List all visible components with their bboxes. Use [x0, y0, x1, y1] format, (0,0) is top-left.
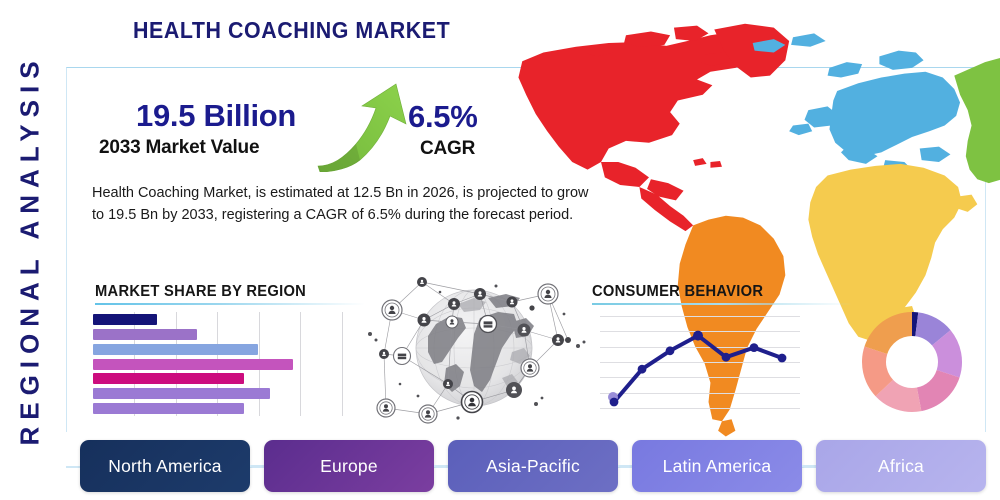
cagr-figure: 6.5% — [408, 99, 477, 135]
bar — [93, 329, 197, 340]
region-button-africa[interactable]: Africa — [816, 440, 986, 492]
bar — [93, 344, 258, 355]
section-title-consumer-behavior: CONSUMER BEHAVIOR — [592, 283, 763, 301]
section-rule-consumer-behavior — [592, 303, 852, 305]
bar — [93, 314, 157, 325]
line-data-point — [610, 398, 619, 407]
line-data-point — [638, 365, 647, 374]
line-data-point — [693, 331, 703, 341]
growth-arrow-icon — [310, 82, 415, 172]
market-description: Health Coaching Market, is estimated at … — [92, 182, 604, 226]
region-button-label: Europe — [320, 456, 378, 477]
consumer-behavior-line-chart — [600, 310, 800, 416]
donut-segment — [864, 312, 912, 354]
cagr-label: CAGR — [420, 138, 475, 160]
region-button-europe[interactable]: Europe — [264, 440, 434, 492]
bar — [93, 359, 293, 370]
region-button-label: North America — [108, 456, 221, 477]
line-data-point — [750, 343, 759, 352]
bar — [93, 403, 244, 414]
region-button-north-america[interactable]: North America — [80, 440, 250, 492]
bar-chart-bars — [93, 312, 383, 416]
line-data-point — [722, 353, 731, 362]
market-share-bar-chart — [93, 312, 383, 416]
market-value-figure: 19.5 Billion — [136, 98, 296, 134]
bar — [93, 388, 270, 399]
consumer-behavior-donut-chart — [856, 306, 968, 418]
bar — [93, 373, 244, 384]
region-button-row: North AmericaEuropeAsia-PacificLatin Ame… — [80, 440, 985, 492]
section-title-market-share: MARKET SHARE BY REGION — [95, 283, 306, 301]
line-data-point — [666, 346, 675, 355]
region-button-latin-america[interactable]: Latin America — [632, 440, 802, 492]
donut-segment — [917, 370, 960, 411]
region-button-label: Latin America — [663, 456, 772, 477]
infographic-root: REGIONAL ANALYSIS HEALTH COACHING MARKET — [0, 0, 1000, 500]
section-rule-market-share — [95, 303, 365, 305]
market-value-label: 2033 Market Value — [99, 137, 259, 159]
region-button-label: Asia-Pacific — [486, 456, 580, 477]
region-button-label: Africa — [878, 456, 924, 477]
line-data-point — [778, 354, 787, 363]
line-chart-series — [600, 310, 800, 416]
region-button-asia-pacific[interactable]: Asia-Pacific — [448, 440, 618, 492]
global-network-illustration — [362, 268, 587, 428]
